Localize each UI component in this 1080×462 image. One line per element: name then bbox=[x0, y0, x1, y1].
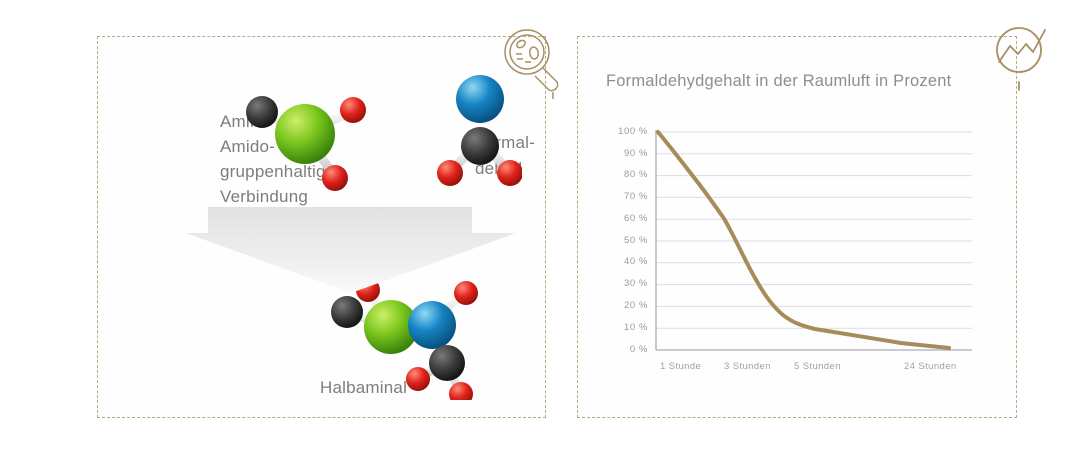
y-tick-0: 0 % bbox=[602, 344, 648, 355]
chart-gridlines bbox=[656, 132, 972, 328]
x-tick-5-stunden: 5 Stunden bbox=[794, 361, 841, 372]
magnifier-microbe-icon bbox=[497, 22, 571, 100]
y-tick-50: 50 % bbox=[602, 235, 648, 246]
y-tick-60: 60 % bbox=[602, 213, 648, 224]
y-tick-40: 40 % bbox=[602, 256, 648, 267]
chart-title: Formaldehydgehalt in der Raumluft in Pro… bbox=[606, 72, 951, 91]
x-tick-1-stunde: 1 Stunde bbox=[660, 361, 701, 372]
y-tick-20: 20 % bbox=[602, 300, 648, 311]
y-tick-100: 100 % bbox=[602, 126, 648, 137]
chart-series-line bbox=[658, 132, 949, 348]
y-tick-90: 90 % bbox=[602, 148, 648, 159]
y-tick-70: 70 % bbox=[602, 191, 648, 202]
y-tick-30: 30 % bbox=[602, 278, 648, 289]
x-tick-3-stunden: 3 Stunden bbox=[724, 361, 771, 372]
halbaminal-molecule bbox=[325, 275, 500, 400]
y-tick-80: 80 % bbox=[602, 169, 648, 180]
infographic-stage: Amino- bzw. Amido- gruppenhaltige Verbin… bbox=[0, 0, 1080, 462]
y-tick-10: 10 % bbox=[602, 322, 648, 333]
amino-compound-molecule bbox=[235, 82, 375, 197]
x-tick-24-stunden: 24 Stunden bbox=[904, 361, 957, 372]
reaction-arrow-down bbox=[186, 203, 516, 293]
trend-chart-icon bbox=[991, 22, 1063, 94]
